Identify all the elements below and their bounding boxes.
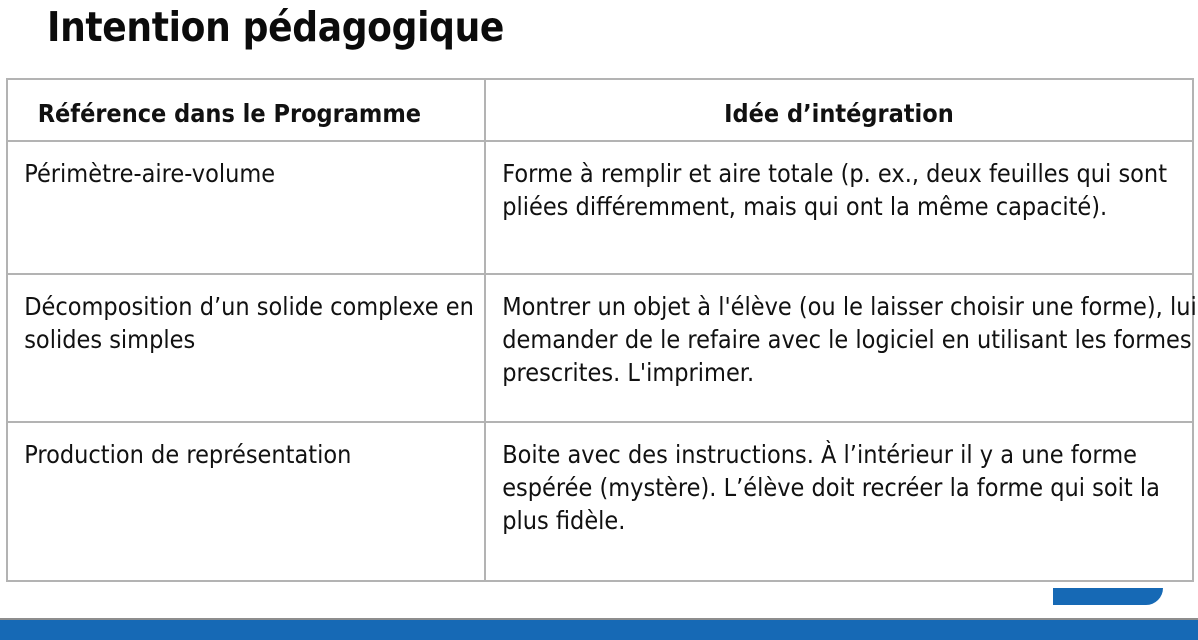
cell-reference: Production de représentation xyxy=(7,422,485,581)
table-row: Périmètre-aire-volume Forme à remplir et… xyxy=(7,141,1193,274)
column-header-reference-label: Référence dans le Programme xyxy=(8,80,514,130)
column-header-idea: Idée d’intégration xyxy=(485,79,1193,141)
cell-reference-text: Production de représentation xyxy=(8,423,506,471)
cell-reference-text: Décomposition d’un solide complexe en so… xyxy=(8,275,506,356)
cell-idea-text: Montrer un objet à l'élève (ou le laisse… xyxy=(486,275,1198,389)
cell-idea: Forme à remplir et aire totale (p. ex., … xyxy=(485,141,1193,274)
cell-reference: Périmètre-aire-volume xyxy=(7,141,485,274)
decorative-blue-tab xyxy=(1053,588,1163,605)
table-header-row: Référence dans le Programme Idée d’intég… xyxy=(7,79,1193,141)
cell-idea: Boite avec des instructions. À l’intérie… xyxy=(485,422,1193,581)
column-header-reference: Référence dans le Programme xyxy=(7,79,485,141)
cell-idea: Montrer un objet à l'élève (ou le laisse… xyxy=(485,274,1193,422)
cell-idea-text: Boite avec des instructions. À l’intérie… xyxy=(486,423,1198,537)
cell-idea-text: Forme à remplir et aire totale (p. ex., … xyxy=(486,142,1198,223)
cell-reference: Décomposition d’un solide complexe en so… xyxy=(7,274,485,422)
intention-pedagogique-table: Référence dans le Programme Idée d’intég… xyxy=(6,78,1194,582)
table-row: Décomposition d’un solide complexe en so… xyxy=(7,274,1193,422)
column-header-idea-label: Idée d’intégration xyxy=(486,80,1192,130)
table-row: Production de représentation Boite avec … xyxy=(7,422,1193,581)
footer-accent-bar xyxy=(0,620,1198,640)
cell-reference-text: Périmètre-aire-volume xyxy=(8,142,506,190)
page-title: Intention pédagogique xyxy=(47,4,504,51)
